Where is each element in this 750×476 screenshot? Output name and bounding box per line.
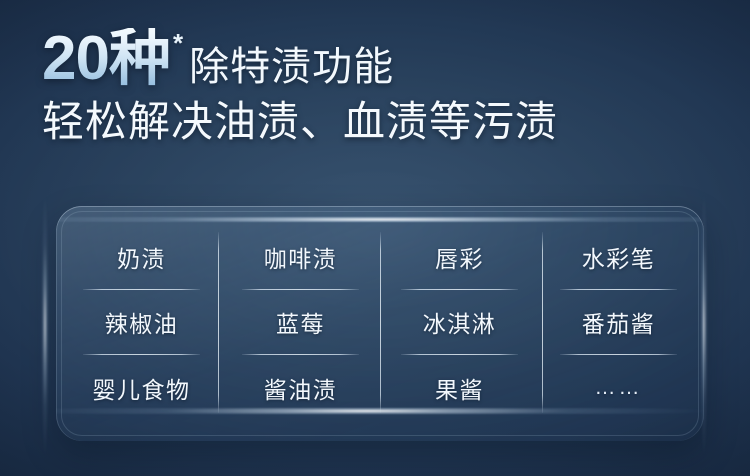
- stain-cell: 婴儿食物: [62, 355, 221, 421]
- headline-block: 20种 * 除特渍功能 轻松解决油渍、血渍等污渍: [42, 28, 722, 146]
- headline-line-1-text: 除特渍功能: [189, 47, 394, 90]
- headline-number: 20种: [42, 28, 172, 90]
- promo-poster: 20种 * 除特渍功能 轻松解决油渍、血渍等污渍 奶渍 咖啡渍 唇彩 水彩笔 辣…: [0, 0, 750, 476]
- stain-cell-more: ……: [539, 355, 698, 421]
- stain-cell: 奶渍: [62, 224, 221, 290]
- column-divider-1: [218, 232, 219, 413]
- asterisk-icon: *: [173, 30, 183, 56]
- stain-cell: 冰淇淋: [380, 290, 539, 356]
- column-divider-3: [542, 232, 543, 413]
- stain-panel: 奶渍 咖啡渍 唇彩 水彩笔 辣椒油 蓝莓 冰淇淋 番茄酱 婴儿食物 酱油渍 果酱…: [56, 206, 704, 441]
- column-divider-2: [380, 232, 381, 413]
- stain-cell: 蓝莓: [221, 290, 380, 356]
- stain-cell: 辣椒油: [62, 290, 221, 356]
- headline-line-1: 20种 * 除特渍功能: [42, 28, 722, 90]
- stain-panel-glass: 奶渍 咖啡渍 唇彩 水彩笔 辣椒油 蓝莓 冰淇淋 番茄酱 婴儿食物 酱油渍 果酱…: [56, 206, 704, 441]
- stain-cell: 唇彩: [380, 224, 539, 290]
- stain-cell: 果酱: [380, 355, 539, 421]
- stain-cell: 番茄酱: [539, 290, 698, 356]
- stain-cell: 咖啡渍: [221, 224, 380, 290]
- headline-line-2-text: 轻松解决油渍、血渍等污渍: [42, 98, 722, 146]
- stain-cell: 酱油渍: [221, 355, 380, 421]
- stain-cell: 水彩笔: [539, 224, 698, 290]
- light-streak-left-icon: [41, 196, 49, 454]
